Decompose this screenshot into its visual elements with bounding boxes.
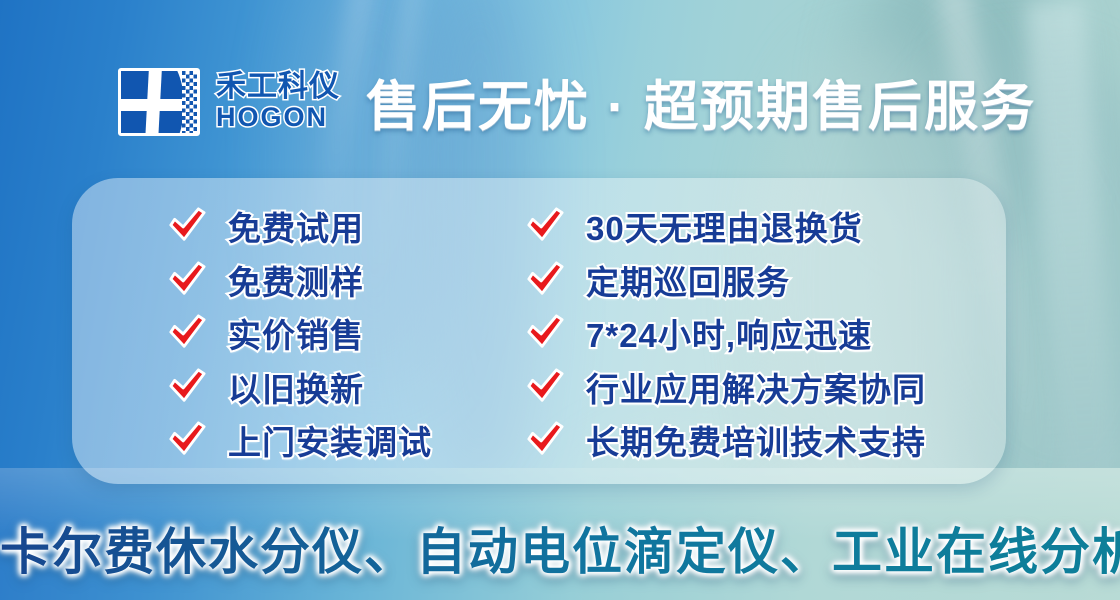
banner-header: 禾工科仪 HOGON 售后无忧 · 超预期售后服务 [118,62,1036,141]
red-checkmark-icon [526,421,564,459]
feature-item: 定期巡回服务 [526,254,1006,306]
feature-item: 以旧换新 [168,361,452,413]
features-left-column: 免费试用 免费测样 实价销售 以旧换新 [72,200,452,466]
red-checkmark-icon [526,314,564,352]
feature-label: 定期巡回服务 [586,256,790,304]
feature-item: 免费试用 [168,200,452,252]
red-checkmark-icon [526,207,564,245]
feature-label: 实价销售 [228,309,364,357]
feature-label: 30天无理由退换货 [586,202,863,250]
red-checkmark-icon [526,261,564,299]
feature-label: 7*24小时,响应迅速 [586,309,872,357]
feature-item: 实价销售 [168,307,452,359]
product-line-text: 卡尔费休水分仪、自动电位滴定仪、工业在线分析仪 [0,512,1120,584]
feature-item: 免费测样 [168,254,452,306]
feature-item: 7*24小时,响应迅速 [526,307,1006,359]
features-right-column: 30天无理由退换货 定期巡回服务 7*24小时,响应迅速 行业应用解决方案协同 [452,200,1006,466]
feature-label: 以旧换新 [228,363,364,411]
red-checkmark-icon [526,368,564,406]
red-checkmark-icon [168,261,206,299]
brand-name-en: HOGON [216,104,340,131]
red-checkmark-icon [168,421,206,459]
feature-label: 长期免费培训技术支持 [586,416,926,464]
feature-item: 30天无理由退换货 [526,200,1006,252]
red-checkmark-icon [168,207,206,245]
feature-label: 免费试用 [228,202,364,250]
brand-name-cn: 禾工科仪 [216,72,340,102]
service-promo-banner: 禾工科仪 HOGON 售后无忧 · 超预期售后服务 免费试用 免费测样 [0,0,1120,600]
brand-lockup: 禾工科仪 HOGON [216,72,340,131]
feature-label: 上门安装调试 [228,416,432,464]
red-checkmark-icon [168,314,206,352]
feature-label: 免费测样 [228,256,364,304]
hogon-flag-logo-icon [118,68,200,136]
feature-item: 长期免费培训技术支持 [526,414,1006,466]
feature-label: 行业应用解决方案协同 [586,363,926,411]
features-card: 免费试用 免费测样 实价销售 以旧换新 [72,178,1006,484]
feature-item: 行业应用解决方案协同 [526,361,1006,413]
logo-checker-edge [182,71,197,133]
red-checkmark-icon [168,368,206,406]
page-title: 售后无忧 · 超预期售后服务 [366,62,1036,141]
feature-item: 上门安装调试 [168,414,452,466]
